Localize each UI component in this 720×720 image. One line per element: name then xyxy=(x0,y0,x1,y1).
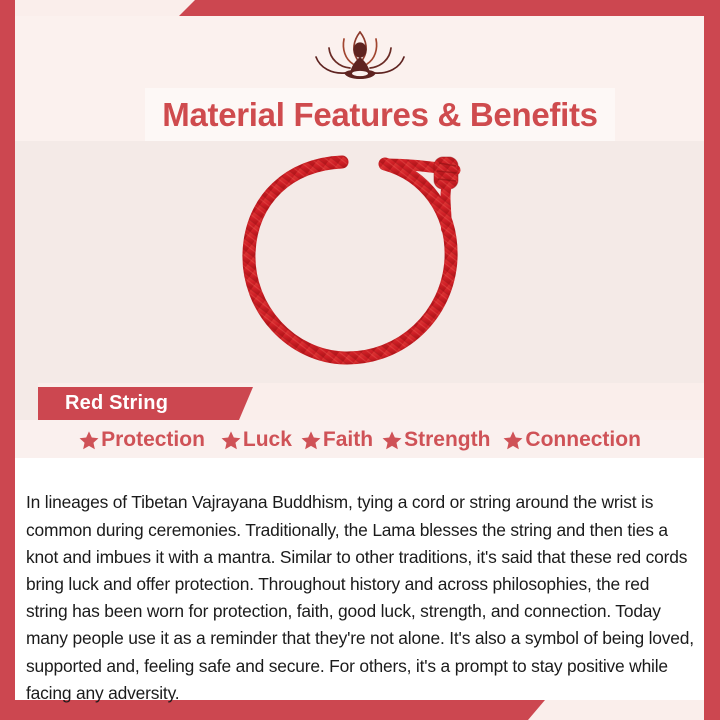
keyword-label: Luck xyxy=(243,428,292,452)
keyword-label: Protection xyxy=(101,428,205,452)
description-text: In lineages of Tibetan Vajrayana Buddhis… xyxy=(26,489,694,707)
keyword-list: Protection Luck Faith Strength xyxy=(15,422,704,458)
keyword-strength: Strength xyxy=(379,428,492,452)
poster-page: BUDDHA STONES Material Features & Benefi… xyxy=(15,16,704,700)
top-decorative-band xyxy=(0,0,720,16)
lotus-meditation-icon xyxy=(300,26,420,88)
star-icon xyxy=(502,430,524,451)
infographic-poster: BUDDHA STONES Material Features & Benefi… xyxy=(0,0,720,720)
keyword-connection: Connection xyxy=(500,428,643,452)
star-icon xyxy=(381,430,403,451)
keyword-label: Strength xyxy=(404,428,490,452)
keyword-luck: Luck xyxy=(218,428,294,452)
star-icon xyxy=(220,430,242,451)
page-title: Material Features & Benefits xyxy=(145,88,615,141)
keyword-label: Connection xyxy=(525,428,641,452)
hero-image-area xyxy=(15,141,704,383)
keyword-faith: Faith xyxy=(298,428,375,452)
red-braided-string-bracelet-icon xyxy=(220,139,500,383)
keyword-protection: Protection xyxy=(76,428,207,452)
description-panel: In lineages of Tibetan Vajrayana Buddhis… xyxy=(15,458,704,700)
left-decorative-border xyxy=(0,0,15,720)
poster-header: BUDDHA STONES Material Features & Benefi… xyxy=(15,16,704,141)
keyword-label: Faith xyxy=(323,428,373,452)
right-decorative-border xyxy=(704,0,720,720)
star-icon xyxy=(300,430,322,451)
star-icon xyxy=(78,430,100,451)
ribbon-left-shadow xyxy=(15,383,38,420)
section-title: Red String xyxy=(65,387,168,420)
